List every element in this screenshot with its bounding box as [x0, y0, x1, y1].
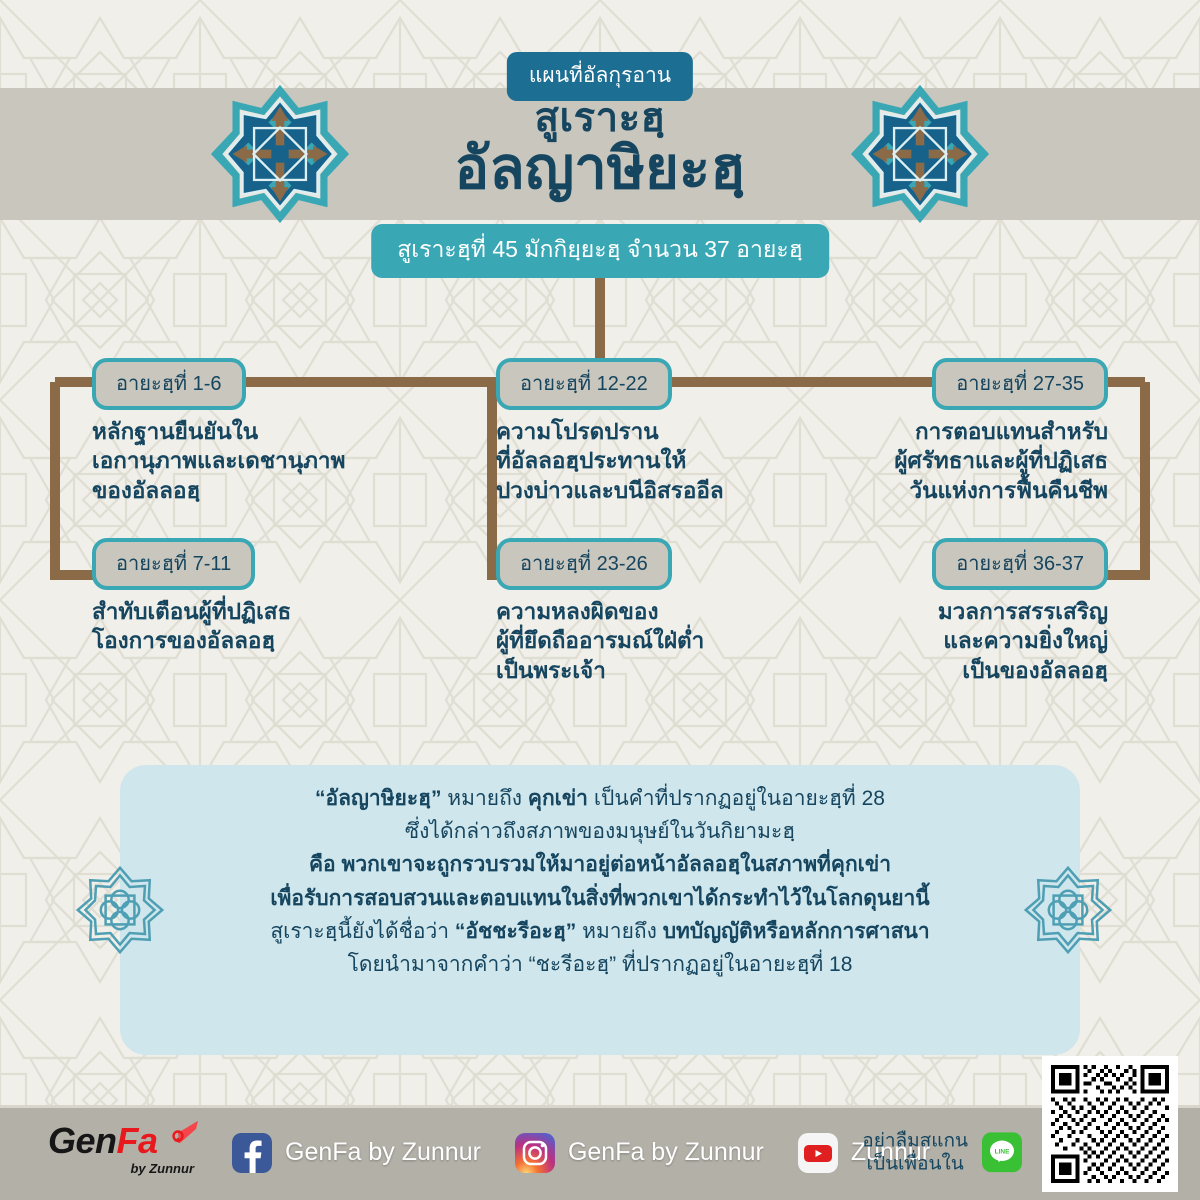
note-line-2: ซึ่งได้กล่าวถึงสภาพของมนุษย์ในวันกิยามะฮ…: [120, 815, 1080, 848]
genfa-byline: by Zunnur: [130, 1161, 194, 1176]
genfa-logo: GenFa by Zunnur: [48, 1123, 198, 1183]
note-term-2: คุกเข่า: [528, 787, 588, 810]
note-line-6: โดยนำมาจากคำว่า “ชะรีอะฮฺ” ที่ปรากฏอยู่ใ…: [120, 948, 1080, 981]
note-line-1-mid: หมายถึง: [441, 787, 527, 810]
genfa-wordmark: GenFa: [48, 1120, 158, 1161]
branch-pill: อายะฮฺที่ 1-6: [92, 358, 246, 410]
branch-body: สำทับเตือนผู้ที่ปฏิเสธ โองการของอัลลอฮฺ: [92, 597, 432, 656]
branch-ayah-12-22: อายะฮฺที่ 12-22 ความโปรดปราน ที่อัลลอฮฺป…: [496, 358, 826, 505]
note-line-1: “อัลญาษิยะฮฺ” หมายถึง คุกเข่า เป็นคำที่ป…: [120, 782, 1080, 815]
branch-body: การตอบแทนสำหรับ ผู้ศรัทธาและผู้ที่ปฏิเสธ…: [778, 417, 1108, 505]
line-icon[interactable]: LINE: [982, 1133, 1022, 1173]
branch-body: หลักฐานยืนยันใน เอกานุภาพและเดชานุภาพ ขอ…: [92, 417, 422, 505]
page-title: สูเราะฮฺ อัลญาษิยะฮฺ: [0, 98, 1200, 198]
note-term-1: “อัลญาษิยะฮฺ”: [315, 787, 441, 810]
surah-subtitle: สูเราะฮฺที่ 45 มักกิยฺยะฮฺ จำนวน 37 อายะ…: [371, 224, 829, 278]
instagram-link[interactable]: GenFa by Zunnur: [515, 1133, 764, 1173]
branch-ayah-7-11: อายะฮฺที่ 7-11 สำทับเตือนผู้ที่ปฏิเสธ โอ…: [92, 538, 432, 656]
branch-ayah-23-26: อายะฮฺที่ 23-26 ความหลงผิดของ ผู้ที่ยึดถ…: [496, 538, 826, 685]
instagram-label: GenFa by Zunnur: [568, 1138, 764, 1167]
branch-pill: อายะฮฺที่ 7-11: [92, 538, 255, 590]
note-line-5: สูเราะฮฺนี้ยังได้ชื่อว่า “อัชชะรีอะฮฺ” ห…: [120, 915, 1080, 948]
note-line-3: คือ พวกเขาจะถูกรวบรวมให้มาอยู่ต่อหน้าอัล…: [120, 848, 1080, 881]
instagram-icon[interactable]: [515, 1133, 555, 1173]
note-term-3: “อัชชะรีอะฮฺ”: [455, 920, 576, 943]
explanation-text: “อัลญาษิยะฮฺ” หมายถึง คุกเข่า เป็นคำที่ป…: [120, 782, 1080, 981]
note-term-4: บทบัญญัติหรือหลักการศาสนา: [663, 920, 930, 943]
note-line-5-start: สูเราะฮฺนี้ยังได้ชื่อว่า: [270, 920, 455, 943]
title-line-1: สูเราะฮฺ: [0, 98, 1200, 138]
branch-pill: อายะฮฺที่ 27-35: [932, 358, 1108, 410]
rocket-arrow-icon: [166, 1119, 200, 1149]
line-message: อย่าลืมสแกน เป็นเพื่อนใน: [862, 1129, 968, 1177]
genfa-fa-text: Fa: [117, 1120, 158, 1161]
qr-code-image: [1051, 1065, 1169, 1183]
line-message-line-2: เป็นเพื่อนใน: [862, 1153, 968, 1177]
note-line-1-end: เป็นคำที่ปรากฏอยู่ในอายะฮฺที่ 28: [588, 787, 885, 810]
star-medallion-icon-left: [208, 82, 352, 226]
youtube-icon[interactable]: [798, 1133, 838, 1173]
star-medallion-icon-right: [848, 82, 992, 226]
branch-pill: อายะฮฺที่ 23-26: [496, 538, 672, 590]
footer-divider: [0, 1105, 1200, 1108]
footer-bar: GenFa by Zunnur GenFa by Zunnur: [0, 1105, 1200, 1200]
facebook-icon[interactable]: [232, 1133, 272, 1173]
branch-body: ความโปรดปราน ที่อัลลอฮฺประทานให้ ปวงบ่าว…: [496, 417, 826, 505]
branch-body: ความหลงผิดของ ผู้ที่ยึดถืออารมณ์ใฝ่ต่ำ เ…: [496, 597, 826, 685]
branch-ayah-27-35: อายะฮฺที่ 27-35 การตอบแทนสำหรับ ผู้ศรัทธ…: [778, 358, 1108, 505]
title-line-2: อัลญาษิยะฮฺ: [0, 140, 1200, 198]
branch-pill: อายะฮฺที่ 12-22: [496, 358, 672, 410]
map-tag-label: แผนที่อัลกุรอาน: [507, 52, 693, 101]
branch-ayah-36-37: อายะฮฺที่ 36-37 มวลการสรรเสริญ และความยิ…: [778, 538, 1108, 685]
facebook-link[interactable]: GenFa by Zunnur: [232, 1133, 481, 1173]
line-qr-code[interactable]: [1042, 1056, 1178, 1192]
line-add-friend[interactable]: อย่าลืมสแกน เป็นเพื่อนใน LINE: [862, 1129, 1022, 1177]
branch-ayah-1-6: อายะฮฺที่ 1-6 หลักฐานยืนยันใน เอกานุภาพแ…: [92, 358, 422, 505]
line-message-line-1: อย่าลืมสแกน: [862, 1129, 968, 1153]
svg-text:LINE: LINE: [995, 1149, 1010, 1156]
note-line-4: เพื่อรับการสอบสวนและตอบแทนในสิ่งที่พวกเข…: [120, 882, 1080, 915]
genfa-gen-text: Gen: [48, 1120, 117, 1161]
branch-body: มวลการสรรเสริญ และความยิ่งใหญ่ เป็นของอั…: [778, 597, 1108, 685]
facebook-label: GenFa by Zunnur: [285, 1138, 481, 1167]
branch-pill: อายะฮฺที่ 36-37: [932, 538, 1108, 590]
header: แผนที่อัลกุรอาน สูเราะฮฺ อัลญาษิยะฮฺ สูเ…: [0, 0, 1200, 300]
note-line-5-mid: หมายถึง: [576, 920, 662, 943]
